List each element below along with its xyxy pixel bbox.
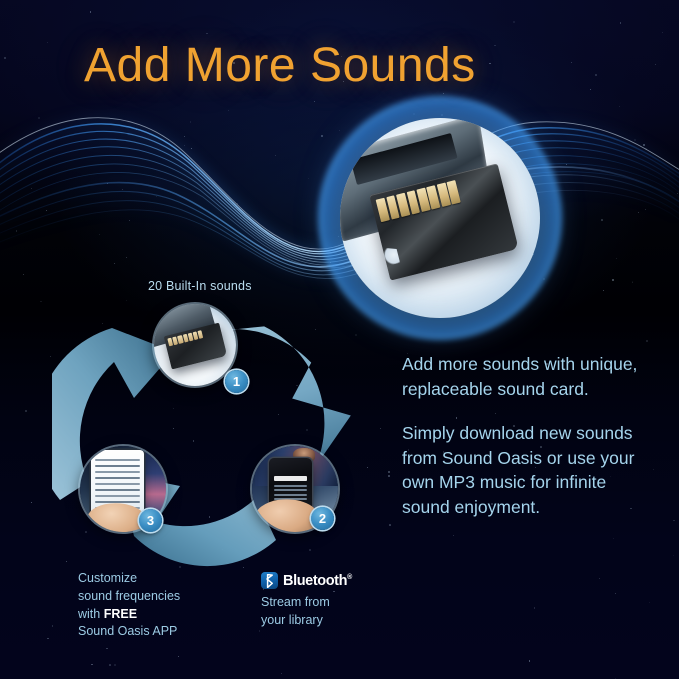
customize-caption-line-3: with FREE	[78, 606, 180, 624]
customize-caption-line-2: sound frequencies	[78, 588, 180, 606]
page-title: Add More Sounds	[84, 38, 476, 93]
sd-card-in-slot-photo	[154, 304, 236, 386]
built-in-sounds-label: 20 Built-In sounds	[148, 279, 252, 293]
bluetooth-logo: Bluetooth®	[261, 572, 352, 589]
cycle-step-1-thumbnail[interactable]	[154, 304, 236, 386]
customize-caption: Customize sound frequencies with FREE So…	[78, 570, 180, 641]
hero-microsd-orb	[340, 118, 540, 318]
bluetooth-subcaption-line-2: your library	[261, 612, 352, 630]
apple-music-logo-icon	[274, 476, 307, 481]
cycle-step-3-badge: 3	[139, 509, 162, 532]
with-prefix: with	[78, 607, 104, 621]
bluetooth-subcaption-line-1: Stream from	[261, 594, 352, 612]
customize-caption-line-1: Customize	[78, 570, 180, 588]
feature-copy-block: Add more sounds with unique, replaceable…	[402, 352, 652, 519]
bluetooth-wordmark: Bluetooth®	[283, 573, 352, 589]
customize-caption-line-4: Sound Oasis APP	[78, 623, 180, 641]
bluetooth-registered-mark: ®	[347, 574, 352, 581]
copy-paragraph-2: Simply download new sounds from Sound Oa…	[402, 421, 652, 519]
bluetooth-subcaption: Stream from your library	[261, 594, 352, 630]
bluetooth-caption: Bluetooth® Stream from your library	[261, 572, 352, 630]
cycle-step-2-badge: 2	[311, 507, 334, 530]
free-emphasis: FREE	[104, 607, 137, 621]
infographic-canvas: Add More Sounds 20 Built-In sounds	[0, 0, 679, 679]
microsd-notch	[381, 244, 400, 266]
copy-paragraph-1: Add more sounds with unique, replaceable…	[402, 352, 652, 401]
bluetooth-icon	[261, 572, 278, 589]
orb-white-disc	[340, 118, 540, 318]
cycle-step-1-badge: 1	[225, 370, 248, 393]
bluetooth-word-text: Bluetooth	[283, 573, 347, 589]
